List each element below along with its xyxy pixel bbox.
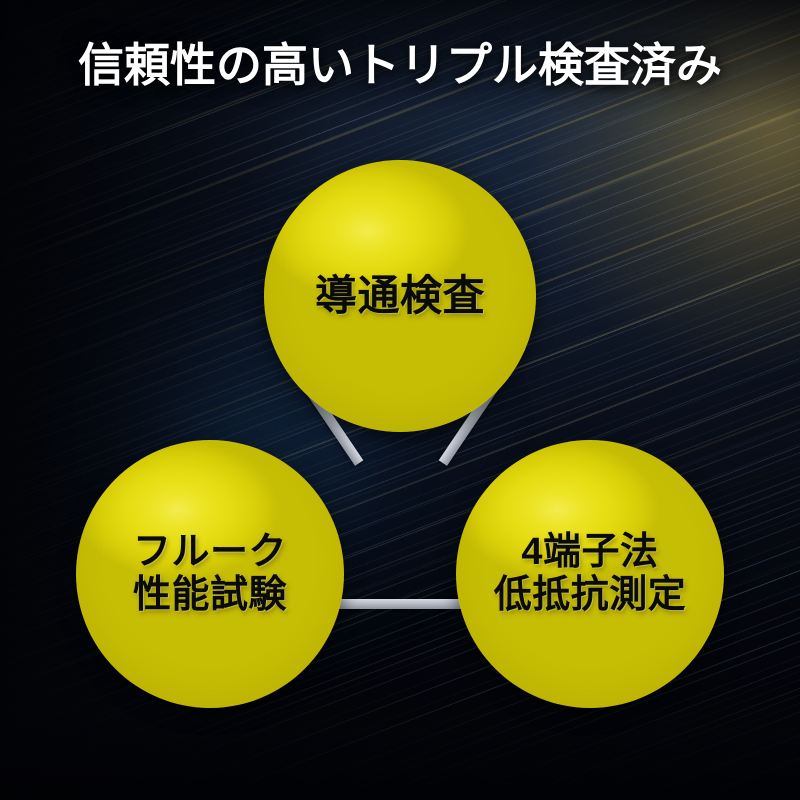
node-top-line-1: 導通検査: [315, 272, 485, 319]
node-left-line-2: 性能試験: [133, 574, 287, 617]
connector-bottom-left-to-bottom-right: [336, 599, 464, 609]
poster-canvas: 信頼性の高いトリプル検査済み 導通検査 フルーク 性能試験 4端子法 低抵抗測定: [0, 0, 800, 800]
node-label-top: 導通検査: [315, 272, 485, 319]
node-label-bottom-left: フルーク 性能試験: [133, 531, 287, 616]
node-label-bottom-right: 4端子法 低抵抗測定: [494, 531, 687, 616]
node-left-line-1: フルーク: [133, 531, 287, 574]
node-circle-continuity-test[interactable]: 導通検査: [264, 160, 536, 432]
page-title: 信頼性の高いトリプル検査済み: [0, 40, 800, 91]
node-circle-fluke-performance-test[interactable]: フルーク 性能試験: [76, 440, 344, 708]
node-right-line-2: 低抵抗測定: [494, 574, 687, 617]
node-right-line-1: 4端子法: [494, 531, 687, 574]
node-circle-four-terminal-low-resistance[interactable]: 4端子法 低抵抗測定: [456, 440, 724, 708]
